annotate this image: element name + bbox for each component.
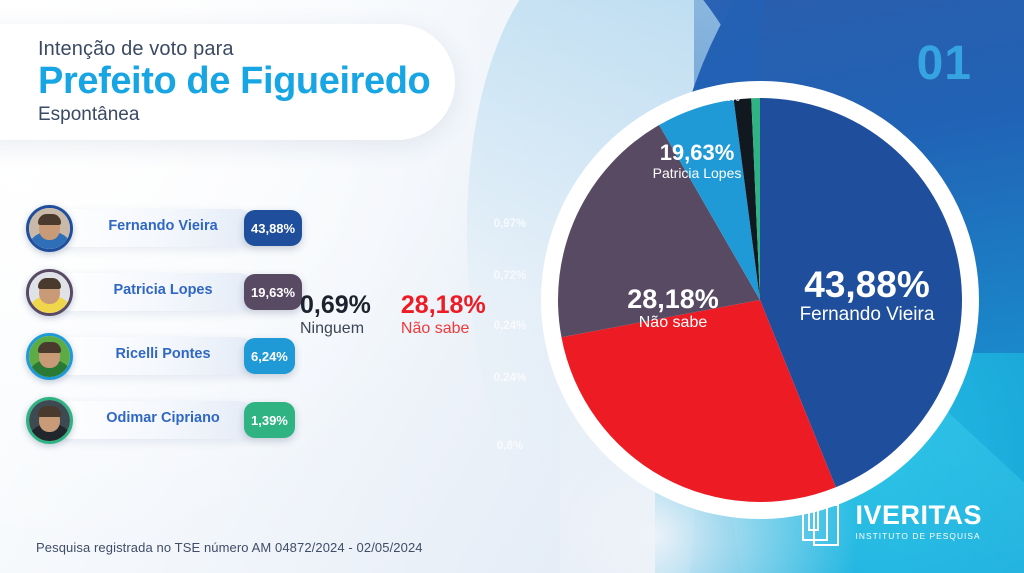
candidate-value-badge: 19,63% (244, 274, 302, 310)
avatar (26, 269, 73, 316)
title-subtitle: Espontânea (38, 104, 455, 126)
figure-label: Ninguem (300, 319, 371, 339)
candidate-name: Patricia Lopes (88, 282, 238, 298)
avatar (26, 333, 73, 380)
logo-text-block: IVERITAS INSTITUTO DE PESQUISA (855, 502, 982, 540)
candidate-row[interactable]: Fernando Vieira43,88% (26, 205, 286, 252)
candidate-row[interactable]: Odimar Cipriano1,39% (26, 397, 286, 444)
iveritas-logo: IVERITAS INSTITUTO DE PESQUISA (802, 497, 982, 545)
page-number: 01 (917, 36, 972, 91)
logo-name: IVERITAS (855, 502, 982, 529)
ghost-value: 0,24% (470, 372, 550, 384)
title-card: Intenção de voto para Prefeito de Figuei… (0, 24, 455, 140)
figure-value: 0,69% (300, 292, 371, 318)
candidate-row[interactable]: Ricelli Pontes6,24% (26, 333, 286, 380)
candidate-value-badge: 1,39% (244, 402, 295, 438)
avatar (26, 397, 73, 444)
pie-chart-svg (540, 80, 980, 520)
ghost-value: 0,97% (470, 218, 550, 230)
figure-value: 28,18% (401, 292, 486, 318)
pie-slice-group (558, 98, 962, 502)
footer-registration: Pesquisa registrada no TSE número AM 048… (36, 540, 423, 555)
secondary-figure: 28,18%Não sabe (401, 292, 486, 339)
avatar (26, 205, 73, 252)
page-title: Prefeito de Figueiredo (38, 62, 455, 102)
figure-label: Não sabe (401, 319, 486, 339)
pie-chart: 43,88% Fernando Vieira 28,18% Não sabe 1… (540, 80, 980, 520)
slide-canvas: 0,97%0,72%0,24%0,24%0,8% 43,88% Fernando… (0, 0, 1024, 573)
candidate-name: Fernando Vieira (88, 218, 238, 234)
title-kicker: Intenção de voto para (38, 38, 455, 61)
secondary-figures: 0,69%Ninguem28,18%Não sabe (300, 292, 486, 339)
logo-squares-icon (802, 497, 846, 545)
candidate-row[interactable]: Patricia Lopes19,63% (26, 269, 286, 316)
candidate-value-badge: 43,88% (244, 210, 302, 246)
candidate-name: Ricelli Pontes (88, 346, 238, 362)
candidate-name: Odimar Cipriano (88, 410, 238, 426)
ghost-value: 0,8% (470, 440, 550, 452)
ghost-value: 0,72% (470, 270, 550, 282)
candidate-value-badge: 6,24% (244, 338, 295, 374)
logo-tagline: INSTITUTO DE PESQUISA (855, 532, 982, 540)
candidate-list: Fernando Vieira43,88%Patricia Lopes19,63… (26, 205, 286, 461)
secondary-figure: 0,69%Ninguem (300, 292, 371, 339)
